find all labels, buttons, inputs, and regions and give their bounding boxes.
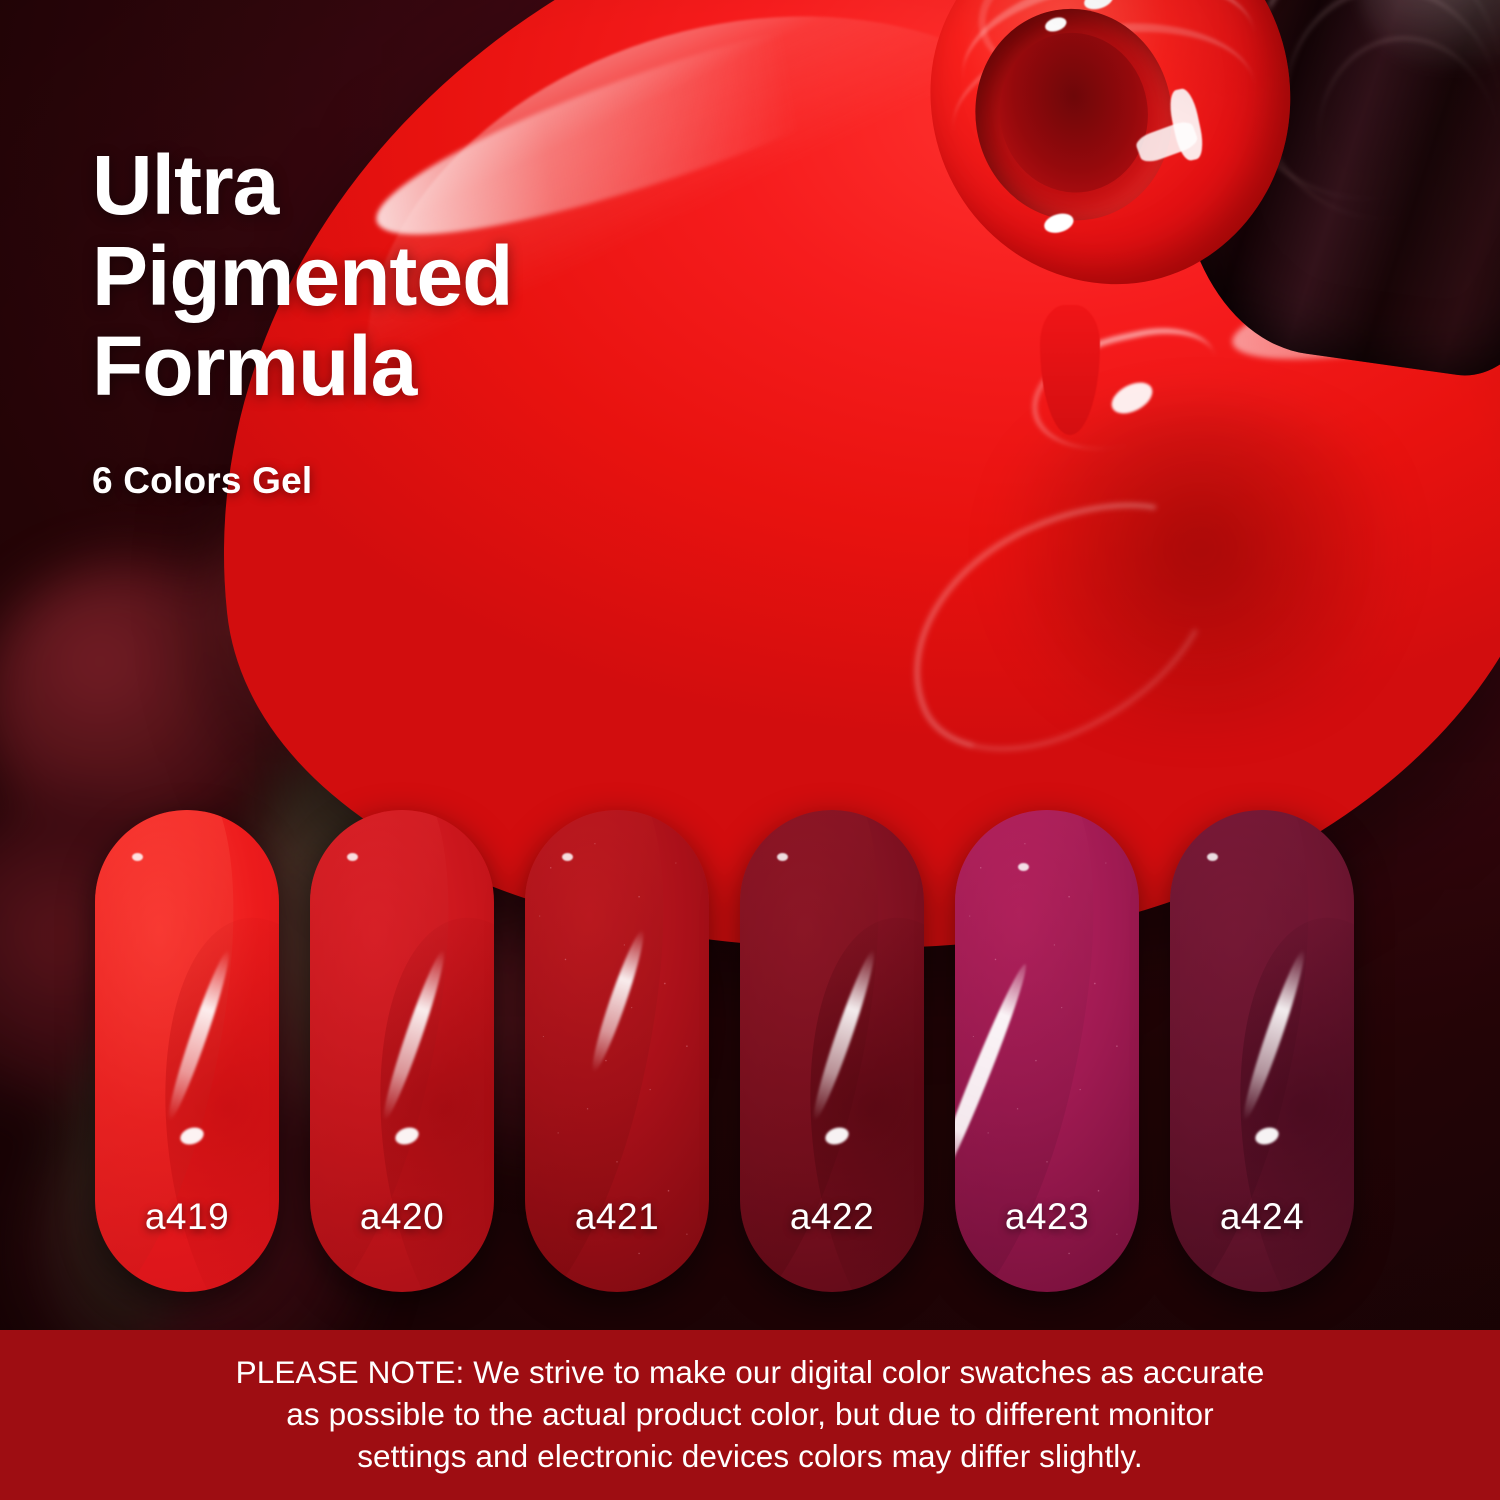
swatch-a420[interactable]: a420 bbox=[310, 810, 494, 1292]
headline-block: Ultra Pigmented Formula 6 Colors Gel bbox=[92, 140, 792, 502]
swatch-a424[interactable]: a424 bbox=[1170, 810, 1354, 1292]
disclaimer-text: PLEASE NOTE: We strive to make our digit… bbox=[236, 1352, 1265, 1478]
swatch-label: a420 bbox=[310, 1196, 494, 1238]
swatch-label: a421 bbox=[525, 1196, 709, 1238]
swatch-a422[interactable]: a422 bbox=[740, 810, 924, 1292]
swatch-row: a419 a420 a421 a422 bbox=[95, 810, 1415, 1292]
swatch-label: a424 bbox=[1170, 1196, 1354, 1238]
disclaimer-line-3: settings and electronic devices colors m… bbox=[236, 1436, 1265, 1478]
swatch-label: a419 bbox=[95, 1196, 279, 1238]
swatch-label: a423 bbox=[955, 1196, 1139, 1238]
headline-line-2: Pigmented bbox=[92, 231, 792, 322]
headline-line-3: Formula bbox=[92, 321, 792, 412]
disclaimer-line-2: as possible to the actual product color,… bbox=[236, 1394, 1265, 1436]
headline-line-1: Ultra bbox=[92, 140, 792, 231]
disclaimer-banner: PLEASE NOTE: We strive to make our digit… bbox=[0, 1330, 1500, 1500]
swatch-label: a422 bbox=[740, 1196, 924, 1238]
page-title: Ultra Pigmented Formula bbox=[92, 140, 792, 412]
subtitle: 6 Colors Gel bbox=[92, 460, 792, 502]
swatch-a421[interactable]: a421 bbox=[525, 810, 709, 1292]
disclaimer-line-1: PLEASE NOTE: We strive to make our digit… bbox=[236, 1352, 1265, 1394]
swatch-a419[interactable]: a419 bbox=[95, 810, 279, 1292]
product-banner: Ultra Pigmented Formula 6 Colors Gel a41… bbox=[0, 0, 1500, 1500]
swatch-a423[interactable]: a423 bbox=[955, 810, 1139, 1292]
